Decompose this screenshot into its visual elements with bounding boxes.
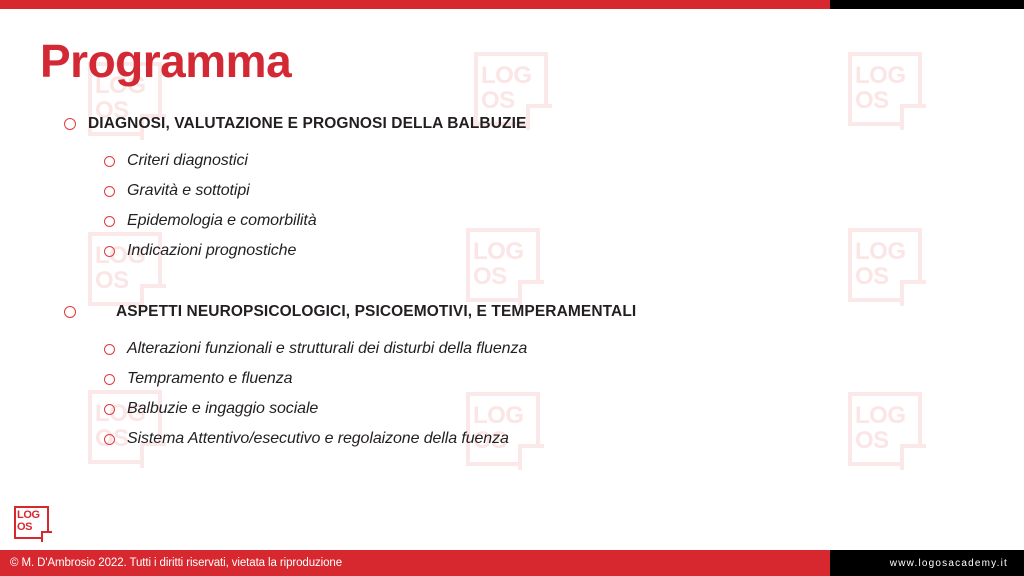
list-item-label: Criteri diagnostici: [127, 152, 248, 170]
circle-bullet-icon: [64, 306, 76, 318]
top-accent-bar: [0, 0, 1024, 9]
footer-bar: © M. D'Ambrosio 2022. Tutti i diritti ri…: [0, 550, 1024, 576]
list-item: Gravità e sottotipi: [0, 176, 1024, 206]
logos-brand-logo-icon: LOGOS: [14, 506, 49, 539]
circle-bullet-icon: [64, 118, 76, 130]
outline-section: ASPETTI NEUROPSICOLOGICI, PSICOEMOTIVI, …: [0, 298, 1024, 454]
list-item: Epidemologia e comorbilità: [0, 206, 1024, 236]
list-item: Sistema Attentivo/esecutivo e regolaizon…: [0, 424, 1024, 454]
outline-section: DIAGNOSI, VALUTAZIONE E PROGNOSI DELLA B…: [0, 110, 1024, 266]
list-item-label: Gravità e sottotipi: [127, 182, 250, 200]
circle-bullet-icon: [104, 186, 115, 197]
list-item: Alterazioni funzionali e strutturali dei…: [0, 334, 1024, 364]
circle-bullet-icon: [104, 374, 115, 385]
circle-bullet-icon: [104, 434, 115, 445]
section-heading-label: DIAGNOSI, VALUTAZIONE E PROGNOSI DELLA B…: [88, 115, 526, 133]
section-heading-row: DIAGNOSI, VALUTAZIONE E PROGNOSI DELLA B…: [0, 110, 1024, 138]
list-item-label: Tempramento e fluenza: [127, 370, 292, 388]
circle-bullet-icon: [104, 344, 115, 355]
section-subitems: Alterazioni funzionali e strutturali dei…: [0, 334, 1024, 454]
footer-website-area: www.logosacademy.it: [830, 550, 1024, 576]
section-heading-label: ASPETTI NEUROPSICOLOGICI, PSICOEMOTIVI, …: [116, 303, 636, 321]
section-heading-row: ASPETTI NEUROPSICOLOGICI, PSICOEMOTIVI, …: [0, 298, 1024, 326]
list-item: Balbuzie e ingaggio sociale: [0, 394, 1024, 424]
circle-bullet-icon: [104, 404, 115, 415]
list-item-label: Epidemologia e comorbilità: [127, 212, 317, 230]
list-item: Indicazioni prognostiche: [0, 236, 1024, 266]
program-outline: DIAGNOSI, VALUTAZIONE E PROGNOSI DELLA B…: [0, 110, 1024, 464]
page-title: Programma: [40, 38, 291, 84]
top-bar-black-segment: [830, 0, 1024, 9]
list-item-label: Sistema Attentivo/esecutivo e regolaizon…: [127, 430, 509, 448]
website-url: www.logosacademy.it: [890, 558, 1024, 569]
circle-bullet-icon: [104, 216, 115, 227]
top-bar-red-segment: [0, 0, 830, 9]
circle-bullet-icon: [104, 246, 115, 257]
list-item-label: Balbuzie e ingaggio sociale: [127, 400, 318, 418]
watermark-line1: LOG: [855, 62, 906, 89]
copyright-text: © M. D'Ambrosio 2022. Tutti i diritti ri…: [0, 557, 342, 569]
logo-line1: LOG: [17, 509, 40, 521]
section-subitems: Criteri diagnostici Gravità e sottotipi …: [0, 146, 1024, 266]
list-item-label: Indicazioni prognostiche: [127, 242, 296, 260]
list-item: Criteri diagnostici: [0, 146, 1024, 176]
list-item-label: Alterazioni funzionali e strutturali dei…: [127, 340, 527, 358]
logo-line2: OS: [17, 521, 32, 533]
footer-copyright-area: © M. D'Ambrosio 2022. Tutti i diritti ri…: [0, 550, 830, 576]
watermark-line1: LOG: [481, 62, 532, 89]
list-item: Tempramento e fluenza: [0, 364, 1024, 394]
circle-bullet-icon: [104, 156, 115, 167]
